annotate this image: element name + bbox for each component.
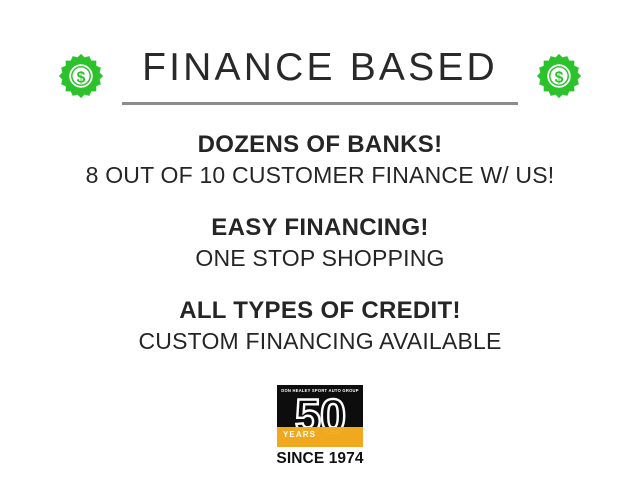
- copy-headline: EASY FINANCING!: [0, 213, 640, 243]
- svg-text:$: $: [77, 69, 86, 86]
- copy-subline: ONE STOP SHOPPING: [0, 243, 640, 274]
- copy-subline: CUSTOM FINANCING AVAILABLE: [0, 326, 640, 357]
- title-block: FINANCE BASED: [122, 48, 518, 105]
- copy-headline: DOZENS OF BANKS!: [0, 130, 640, 160]
- money-gear-icon: $: [536, 53, 582, 99]
- copy-group: ALL TYPES OF CREDIT! CUSTOM FINANCING AV…: [0, 296, 640, 357]
- copy-group: EASY FINANCING! ONE STOP SHOPPING: [0, 213, 640, 274]
- body-copy: DOZENS OF BANKS! 8 OUT OF 10 CUSTOMER FI…: [0, 130, 640, 357]
- finance-based-slide: $ FINANCE BASED $ DOZENS OF BANKS! 8 OUT…: [0, 0, 640, 480]
- money-gear-icon: $: [58, 53, 104, 99]
- svg-text:$: $: [555, 69, 564, 86]
- logo-since-label: SINCE 1974: [276, 450, 363, 467]
- logo-mark: DON HEALEY SPORT AUTO GROUP 50 50 YEARS: [277, 385, 363, 447]
- copy-headline: ALL TYPES OF CREDIT!: [0, 296, 640, 326]
- dealer-anniversary-logo: DON HEALEY SPORT AUTO GROUP 50 50 YEARS …: [277, 385, 363, 467]
- title-divider: [122, 102, 518, 105]
- copy-subline: 8 OUT OF 10 CUSTOMER FINANCE W/ US!: [0, 160, 640, 191]
- slide-header: $ FINANCE BASED $: [0, 40, 640, 112]
- copy-group: DOZENS OF BANKS! 8 OUT OF 10 CUSTOMER FI…: [0, 130, 640, 191]
- logo-years-label: YEARS: [283, 430, 316, 440]
- page-title: FINANCE BASED: [142, 48, 498, 89]
